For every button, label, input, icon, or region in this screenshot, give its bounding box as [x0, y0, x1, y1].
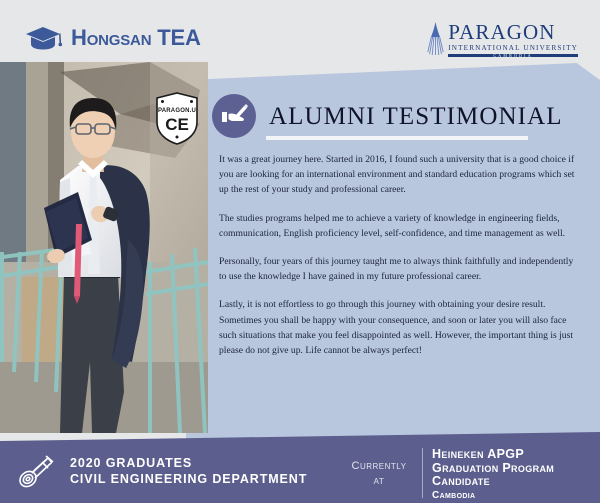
paragon-country: CAMBODIA: [448, 54, 578, 57]
paragon-subtitle: INTERNATIONAL UNIVERSITY: [448, 45, 578, 52]
currently-line-1: Currently: [352, 460, 407, 472]
company-lines: Heineken APGP Graduation Program Candida…: [432, 448, 554, 502]
paragon-rule: CAMBODIA: [448, 54, 578, 57]
testimonial-body: It was a great journey here. Started in …: [219, 152, 579, 358]
company-line-2: Graduation Program: [432, 462, 554, 476]
testimonial-paragraph: Personally, four years of this journey t…: [219, 254, 579, 284]
graduation-cap-icon: [24, 24, 64, 52]
brand-left-label: Hongsan TEA: [71, 27, 201, 49]
badge-code: CE: [165, 115, 189, 134]
company-line-3: Candidate: [432, 475, 554, 489]
graduation-year-label: 2020 GRADUATES: [70, 457, 307, 470]
testimonial-paragraph: Lastly, it is not effortless to go throu…: [219, 297, 579, 358]
paragon-name: PARAGON: [448, 22, 578, 43]
diploma-scroll-icon: [18, 453, 58, 489]
paragon-torch-icon: [427, 22, 444, 56]
footer-divider: [422, 448, 423, 498]
brand-hongsan-tea: Hongsan TEA: [24, 24, 201, 52]
currently-at-label: Currently at: [345, 448, 413, 489]
company-line-4: Cambodia: [432, 489, 554, 503]
department-label: CIVIL ENGINEERING DEPARTMENT: [70, 473, 307, 486]
page-title: ALUMNI TESTIMONIAL: [269, 104, 563, 129]
brand-paragon-university: PARAGON INTERNATIONAL UNIVERSITY CAMBODI…: [427, 22, 578, 57]
title-divider: [266, 136, 528, 140]
paragon-wordmark: PARAGON INTERNATIONAL UNIVERSITY CAMBODI…: [448, 22, 578, 57]
writing-hand-icon: [212, 94, 256, 138]
footer-graduation-info: 2020 GRADUATES CIVIL ENGINEERING DEPARTM…: [18, 453, 307, 489]
poster-footer: 2020 GRADUATES CIVIL ENGINEERING DEPARTM…: [0, 432, 600, 503]
paragon-ce-badge: PARAGON.U CE: [155, 92, 199, 145]
alumni-testimonial-poster: Hongsan TEA PARAGO: [0, 0, 600, 503]
currently-line-2: at: [345, 474, 413, 489]
footer-current-role: Currently at Heineken APGP Graduation Pr…: [345, 448, 554, 502]
testimonial-paragraph: It was a great journey here. Started in …: [219, 152, 579, 198]
poster-header: Hongsan TEA PARAGO: [0, 0, 600, 85]
footer-left-lines: 2020 GRADUATES CIVIL ENGINEERING DEPARTM…: [70, 457, 307, 486]
testimonial-paragraph: The studies programs helped me to achiev…: [219, 211, 579, 241]
company-line-1: Heineken APGP: [432, 448, 554, 462]
panel-title-row: ALUMNI TESTIMONIAL: [212, 94, 563, 138]
badge-top-label: PARAGON.U: [158, 108, 196, 114]
